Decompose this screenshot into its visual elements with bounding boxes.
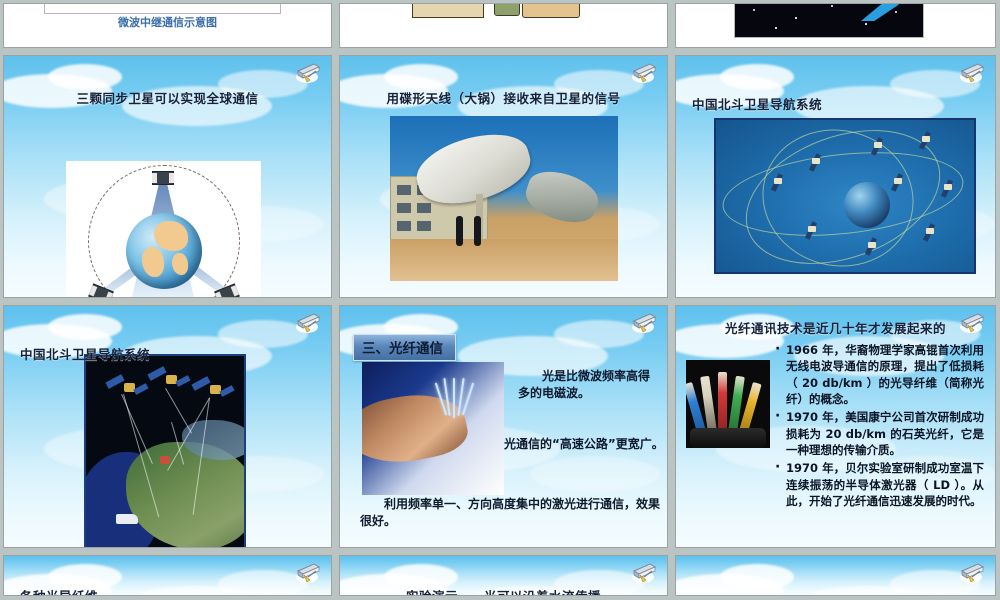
hand-fibers-photo	[362, 362, 504, 495]
slide-cell-r4c1[interactable]: 各种光导纤维	[0, 552, 336, 600]
satellite-left-large	[106, 376, 146, 398]
slide-title-r4c1: 各种光导纤维	[20, 586, 331, 596]
beidou-constellation-photo	[714, 118, 976, 274]
slide-title-r2c2: 用碟形天线（大锅）接收来自卫星的信号	[340, 88, 667, 107]
slide-title-r3c3: 光纤通讯技术是近几十年才发展起来的	[676, 318, 995, 337]
paragraph-2: 光通信的“高速公路”更宽广。	[480, 436, 666, 453]
slide-cell-r3c3[interactable]: 光纤通讯技术是近几十年才发展起来的 1966 年，华裔物理学家高锟首次利用无线电…	[672, 302, 1000, 552]
living-room-illustration	[382, 3, 604, 34]
slide-thumbnail-r3c2[interactable]: 三、光纤通信 光是比微波频率高得多的电磁波。 光通信的“高速公路”更宽广。 利用…	[339, 305, 668, 548]
slide-title-r2c3: 中国北斗卫星导航系统	[692, 94, 995, 113]
book-pen-logo-icon	[958, 60, 986, 84]
book-pen-logo-icon	[630, 560, 658, 584]
slide-cell-r3c2[interactable]: 三、光纤通信 光是比微波频率高得多的电磁波。 光通信的“高速公路”更宽广。 利用…	[336, 302, 672, 552]
earth-globe	[126, 213, 202, 289]
book-pen-logo-icon	[958, 310, 986, 334]
book-pen-logo-icon	[630, 60, 658, 84]
slide-cell-r1c3[interactable]	[672, 0, 1000, 52]
slide-thumbnail-r4c1[interactable]: 各种光导纤维	[3, 555, 332, 596]
paragraph-3: 利用频率单一、方向高度集中的激光进行通信，效果很好。	[360, 496, 660, 531]
slide-title-r2c1: 三颗同步卫星可以实现全球通信	[4, 88, 331, 107]
slide-grid[interactable]: 微波中继通信示意图	[0, 0, 1000, 600]
book-pen-logo-icon	[630, 310, 658, 334]
slide-cell-r1c2[interactable]	[336, 0, 672, 52]
secondary-dish-shape	[521, 164, 604, 230]
slide-cell-r4c2[interactable]: 实验演示——光可以沿着水流传播	[336, 552, 672, 600]
beidou-ground-coverage-photo	[84, 354, 246, 548]
section-title-box: 三、光纤通信	[353, 334, 456, 361]
book-pen-logo-icon	[958, 560, 986, 584]
sofa-shape	[522, 3, 580, 18]
fiber-cable-bundle-photo	[686, 360, 770, 448]
slide-cell-r3c1[interactable]: 中国北斗卫星导航系统	[0, 302, 336, 552]
slide-thumbnail-r2c1[interactable]: 三颗同步卫星可以实现全球通信	[3, 55, 332, 298]
slide-thumbnail-r4c3[interactable]	[675, 555, 996, 596]
bullet-item: 1966 年，华裔物理学家高锟首次利用无线电波导通信的原理，提出了低损耗（ 20…	[786, 342, 984, 407]
slide-cell-r2c3[interactable]: 中国北斗卫星导航系统	[672, 52, 1000, 302]
slide-cell-r4c3[interactable]	[672, 552, 1000, 600]
slide-caption-r1c1: 微波中继通信示意图	[4, 14, 331, 30]
satellite-top	[152, 171, 174, 185]
slide-cell-r2c2[interactable]: 用碟形天线（大锅）接收来自卫星的信号	[336, 52, 672, 302]
book-pen-logo-icon	[294, 310, 322, 334]
optical-fibers-shape	[440, 378, 480, 418]
slide-title-r3c1: 中国北斗卫星导航系统	[20, 344, 331, 363]
three-satellites-globe-diagram	[66, 161, 261, 298]
slide-thumbnail-r4c2[interactable]: 实验演示——光可以沿着水流传播	[339, 555, 668, 596]
bullet-item: 1970 年，贝尔实验室研制成功室温下连续振荡的半导体激光器（ LD ）。从此，…	[786, 460, 984, 509]
book-pen-logo-icon	[294, 60, 322, 84]
slide-thumbnail-r2c3[interactable]: 中国北斗卫星导航系统	[675, 55, 996, 298]
satellite-panel-shape	[861, 3, 899, 21]
slide-thumbnail-r3c3[interactable]: 光纤通讯技术是近几十年才发展起来的 1966 年，华裔物理学家高锟首次利用无线电…	[675, 305, 996, 548]
tv-cabinet-shape	[412, 3, 484, 18]
bullet-list: 1966 年，华裔物理学家高锟首次利用无线电波导通信的原理，提出了低损耗（ 20…	[772, 342, 984, 511]
book-pen-logo-icon	[294, 560, 322, 584]
paragraph-1: 光是比微波频率高得多的电磁波。	[518, 368, 660, 403]
sky-background	[676, 556, 995, 595]
satellite-right-large	[192, 378, 232, 400]
microwave-relay-diagram-image	[44, 3, 281, 14]
slide-cell-r2c1[interactable]: 三颗同步卫星可以实现全球通信	[0, 52, 336, 302]
slide-cell-r1c1[interactable]: 微波中继通信示意图	[0, 0, 336, 52]
person-shape	[494, 3, 520, 16]
slide-thumbnail-r1c3[interactable]	[675, 3, 996, 48]
slide-title-r4c2: 实验演示——光可以沿着水流传播	[340, 586, 667, 596]
bullet-item: 1970 年，美国康宁公司首次研制成功损耗为 20 db/km 的石英光纤，它是…	[786, 409, 984, 458]
slide-thumbnail-r3c1[interactable]: 中国北斗卫星导航系统	[3, 305, 332, 548]
slide-thumbnail-r2c2[interactable]: 用碟形天线（大锅）接收来自卫星的信号	[339, 55, 668, 298]
dish-antenna-photo	[390, 116, 618, 281]
satellite-center-large	[148, 368, 188, 390]
starfield-satellite-image	[734, 3, 924, 38]
slide-thumbnail-r1c2[interactable]	[339, 3, 668, 48]
earth-globe-small	[844, 182, 890, 228]
slide-thumbnail-r1c1[interactable]: 微波中继通信示意图	[3, 3, 332, 48]
